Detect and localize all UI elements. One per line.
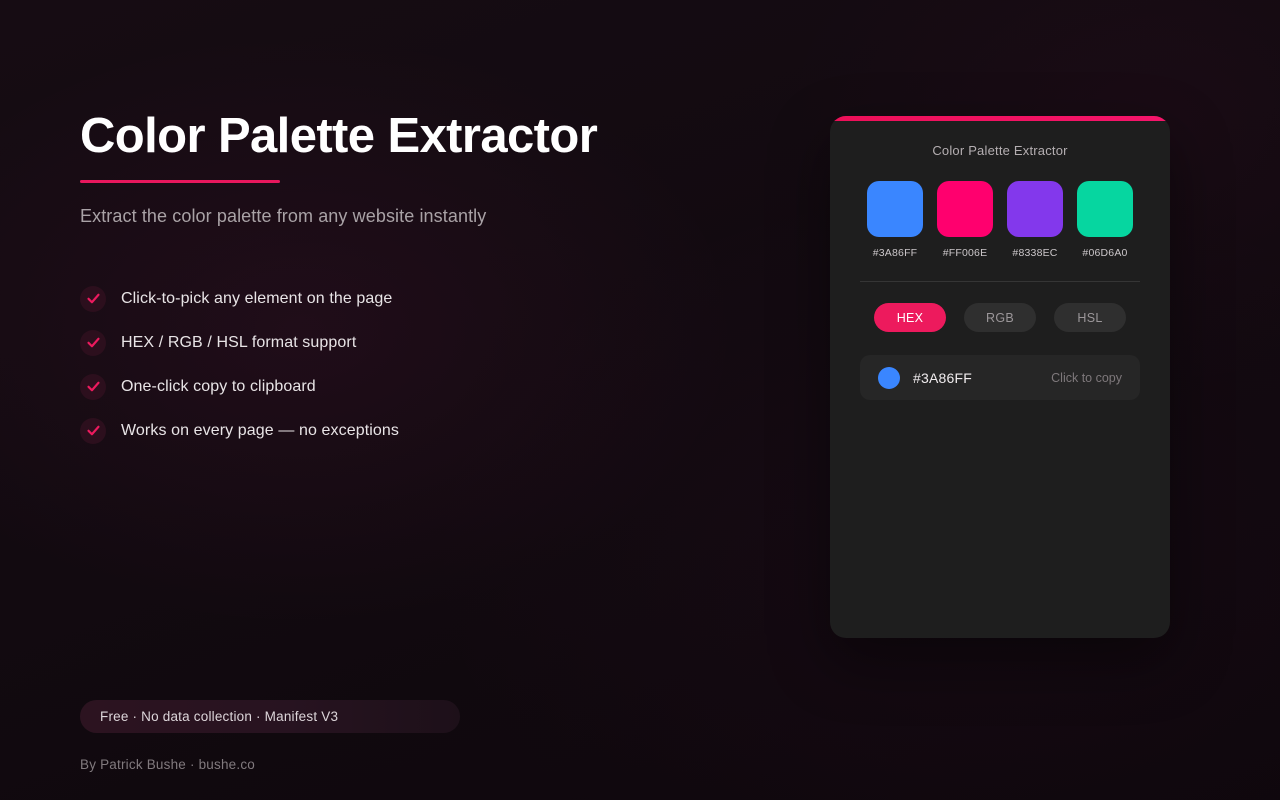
list-item: Works on every page — no exceptions <box>80 409 720 453</box>
list-item: Click-to-pick any element on the page <box>80 277 720 321</box>
page-title: Color Palette Extractor <box>80 108 720 166</box>
hero-section: Color Palette Extractor Extract the colo… <box>80 108 720 453</box>
feature-label: HEX / RGB / HSL format support <box>121 334 356 352</box>
panel-divider <box>860 281 1140 282</box>
list-item: HEX / RGB / HSL format support <box>80 321 720 365</box>
color-dot-icon <box>878 367 900 389</box>
format-toggle-group: HEX RGB HSL <box>830 303 1170 332</box>
color-swatch[interactable] <box>867 181 923 237</box>
swatch-cell[interactable]: #3A86FF <box>867 181 923 259</box>
swatch-hex-label: #FF006E <box>937 247 993 259</box>
copy-color-value: #3A86FF <box>913 370 972 386</box>
list-item: One-click copy to clipboard <box>80 365 720 409</box>
feature-label: One-click copy to clipboard <box>121 378 316 396</box>
color-swatch[interactable] <box>1007 181 1063 237</box>
check-icon <box>80 374 106 400</box>
format-tab-hsl[interactable]: HSL <box>1054 303 1126 332</box>
format-tab-hex[interactable]: HEX <box>874 303 946 332</box>
swatch-cell[interactable]: #FF006E <box>937 181 993 259</box>
panel-title: Color Palette Extractor <box>830 143 1170 158</box>
copy-color-row[interactable]: #3A86FF Click to copy <box>860 355 1140 400</box>
swatch-cell[interactable]: #8338EC <box>1007 181 1063 259</box>
check-icon <box>80 286 106 312</box>
check-icon <box>80 330 106 356</box>
swatch-hex-label: #8338EC <box>1007 247 1063 259</box>
feature-list: Click-to-pick any element on the page HE… <box>80 277 720 453</box>
page-root: Color Palette Extractor Extract the colo… <box>0 0 1280 800</box>
extension-preview-panel: Color Palette Extractor #3A86FF #FF006E … <box>830 116 1170 638</box>
copy-hint-label: Click to copy <box>1051 371 1122 385</box>
status-badge: Free · No data collection · Manifest V3 <box>80 700 460 733</box>
feature-label: Click-to-pick any element on the page <box>121 290 392 308</box>
page-subtitle: Extract the color palette from any websi… <box>80 206 720 227</box>
swatch-grid: #3A86FF #FF006E #8338EC #06D6A0 <box>830 181 1170 259</box>
swatch-cell[interactable]: #06D6A0 <box>1077 181 1133 259</box>
panel-accent-bar <box>830 116 1170 121</box>
swatch-hex-label: #3A86FF <box>867 247 923 259</box>
color-swatch[interactable] <box>1077 181 1133 237</box>
feature-label: Works on every page — no exceptions <box>121 422 399 440</box>
swatch-hex-label: #06D6A0 <box>1077 247 1133 259</box>
title-underline-accent <box>80 180 280 183</box>
format-tab-rgb[interactable]: RGB <box>964 303 1036 332</box>
author-byline: By Patrick Bushe · bushe.co <box>80 757 255 772</box>
check-icon <box>80 418 106 444</box>
status-badge-label: Free · No data collection · Manifest V3 <box>100 709 338 724</box>
color-swatch[interactable] <box>937 181 993 237</box>
